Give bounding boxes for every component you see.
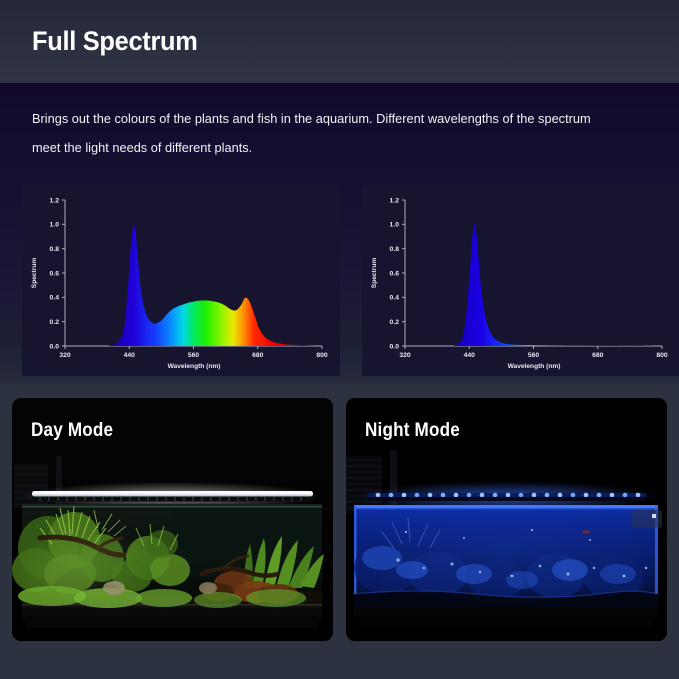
chart-full-spectrum-day: 0.00.20.40.60.81.01.2 320440560680800 Sp… — [22, 186, 340, 376]
chart-background-night — [362, 186, 679, 376]
chart-ytick-label: 0.4 — [390, 295, 400, 302]
chart-xtick-label: 560 — [188, 352, 200, 359]
chart-ytick-label: 0.8 — [390, 246, 400, 253]
product-feature-page: Full Spectrum Brings out the colours of … — [0, 0, 679, 679]
night-mode-label: Night Mode — [365, 420, 460, 442]
chart-ytick-label: 1.2 — [390, 197, 400, 204]
chart-ytick-label: 1.2 — [50, 197, 60, 204]
chart-ytick-label: 1.0 — [390, 222, 400, 229]
chart-xtick-label: 680 — [252, 352, 264, 359]
photo-panel-day-mode[interactable]: Day Mode — [12, 398, 333, 641]
chart-full-spectrum-night: 0.00.20.40.60.81.01.2 320440560680800 Sp… — [362, 186, 679, 376]
chart-ylabel-day: Spectrum — [31, 258, 38, 289]
photo-panel-night-mode[interactable]: Night Mode — [346, 398, 667, 641]
chart-plot-night: 0.00.20.40.60.81.01.2 320440560680800 Sp… — [362, 186, 679, 376]
chart-ytick-label: 0.6 — [390, 270, 400, 277]
chart-xtick-label: 320 — [59, 352, 71, 359]
chart-ylabel-night: Spectrum — [371, 258, 378, 289]
chart-ytick-label: 0.0 — [390, 343, 400, 350]
header-band: Full Spectrum — [0, 0, 679, 83]
spectrum-svg-day: 0.00.20.40.60.81.01.2 320440560680800 Sp… — [22, 186, 340, 376]
day-mode-label: Day Mode — [31, 420, 113, 442]
chart-xtick-label: 800 — [656, 352, 668, 359]
chart-ytick-label: 0.2 — [390, 319, 400, 326]
chart-xlabel-day: Wavelength (nm) — [168, 363, 221, 370]
chart-xlabel-night: Wavelength (nm) — [508, 363, 561, 370]
chart-xtick-label: 560 — [528, 352, 540, 359]
chart-xtick-label: 800 — [316, 352, 328, 359]
chart-ytick-label: 0.6 — [50, 270, 60, 277]
chart-ytick-label: 0.8 — [50, 246, 60, 253]
chart-ytick-label: 0.0 — [50, 343, 60, 350]
chart-background-day — [22, 186, 340, 376]
page-title: Full Spectrum — [32, 26, 198, 57]
chart-xtick-label: 320 — [399, 352, 411, 359]
chart-ytick-label: 1.0 — [50, 222, 60, 229]
chart-ytick-label: 0.4 — [50, 295, 60, 302]
chart-xtick-label: 440 — [124, 352, 136, 359]
chart-ytick-label: 0.2 — [50, 319, 60, 326]
description-text: Brings out the colours of the plants and… — [32, 104, 614, 162]
chart-xtick-label: 680 — [592, 352, 604, 359]
chart-xtick-label: 440 — [464, 352, 476, 359]
spectrum-svg-night: 0.00.20.40.60.81.01.2 320440560680800 Sp… — [362, 186, 679, 376]
chart-plot-day: 0.00.20.40.60.81.01.2 320440560680800 Sp… — [22, 186, 340, 376]
